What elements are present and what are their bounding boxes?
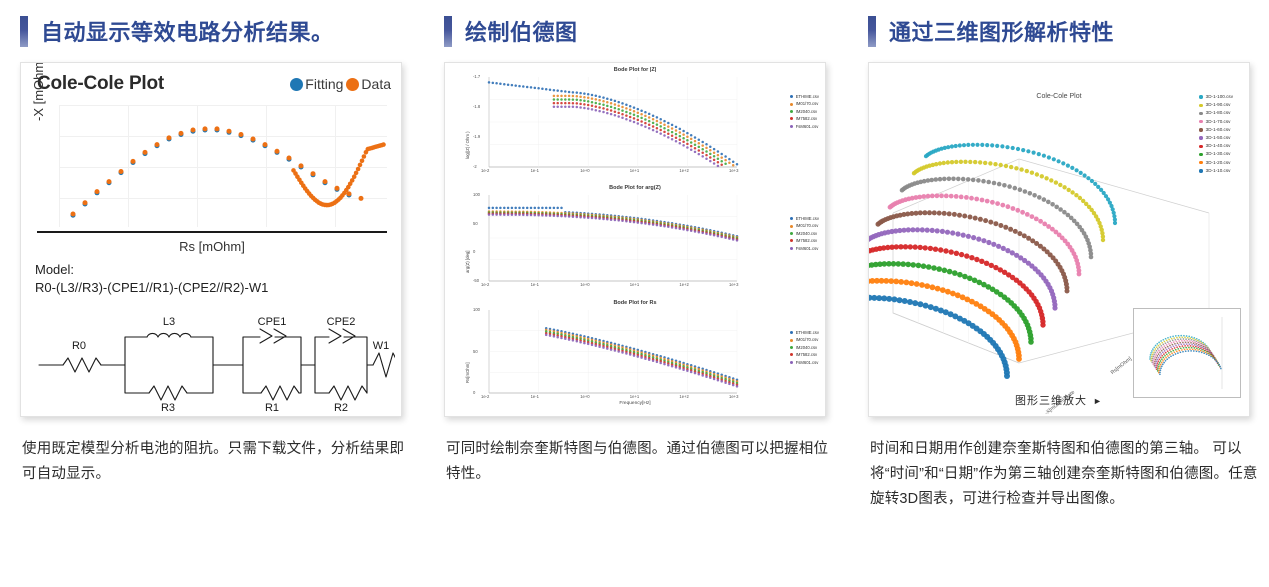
bode-xtick: 1e+2	[679, 282, 688, 287]
threed-legend-item: 3D-1-70.csv	[1199, 118, 1233, 126]
threed-legend-label: 3D-1-80.csv	[1206, 109, 1231, 117]
bode-legend-item: FsM601.csv	[790, 123, 819, 130]
bode-card: Bode Plot for |Z| log(|Z| / Ohm ) Bode P…	[444, 62, 826, 417]
panel-1-heading: 自动显示等效电路分析结果。	[20, 14, 334, 48]
equivalent-circuit-diagram: R0 L3 R3 CPE1 R1 CPE2 R2 W1	[29, 303, 395, 413]
threed-legend-marker-icon	[1199, 153, 1202, 156]
panel-2-caption: 可同时绘制奈奎斯特图与伯德图。通过伯德图可以把握相位特性。	[446, 437, 834, 487]
bode-legend-rs: ETHIME.csvIM01/70.csvIM2040.csvIM7582.cs…	[790, 329, 819, 366]
bode-legend-item: ETHIME.csv	[790, 329, 819, 336]
bode-legend-label: FsM601.csv	[796, 123, 819, 130]
circuit-label-r0: R0	[72, 340, 86, 352]
bode-legend-item: IM7582.csv	[790, 351, 819, 358]
threed-legend-label: 3D-1-30.csv	[1206, 150, 1231, 158]
bode-ytick: 100	[473, 307, 480, 312]
heading-accent-bar	[868, 16, 876, 47]
bode-xtick: 1e-1	[531, 282, 539, 287]
threed-legend-marker-icon	[1199, 161, 1202, 164]
legend-item-data: Data	[346, 76, 391, 92]
threed-legend: 3D-1-100.csv3D-1-90.csv3D-1-80.csv3D-1-7…	[1199, 93, 1233, 175]
bode-ylabel-impedance: log(|Z| / Ohm )	[465, 131, 470, 159]
bode-legend-item: IM2040.csv	[790, 230, 819, 237]
circuit-label-r3: R3	[161, 402, 175, 413]
panel-3-heading: 通过三维图形解析特性	[868, 14, 1114, 48]
bode-legend-marker-icon	[790, 361, 793, 364]
threed-legend-marker-icon	[1199, 128, 1202, 131]
model-label: Model:	[35, 262, 74, 277]
bode-legend-impedance: ETHIME.csvIM01/70.csvIM2040.csvIM7582.cs…	[790, 93, 819, 130]
bode-legend-label: IM7582.csv	[796, 351, 817, 358]
panel-1-heading-text: 自动显示等效电路分析结果。	[41, 15, 334, 47]
bode-ytick: -50	[473, 278, 479, 283]
circuit-label-w1: W1	[373, 340, 390, 352]
threed-legend-item: 3D-1-40.csv	[1199, 142, 1233, 150]
heading-accent-bar	[444, 16, 452, 47]
bode-legend-marker-icon	[790, 339, 793, 342]
bode-xtick: 1e-2	[481, 394, 489, 399]
bode-ytick: -1.8	[473, 104, 480, 109]
cole-cole-legend: Fitting Data	[290, 76, 391, 92]
threed-legend-label: 3D-1-70.csv	[1206, 118, 1231, 126]
bode-ytick: 50	[473, 349, 478, 354]
bode-legend-item: FsM601.csv	[790, 245, 819, 252]
bode-legend-label: ETHIME.csv	[796, 215, 819, 222]
threed-legend-marker-icon	[1199, 136, 1202, 139]
threed-legend-marker-icon	[1199, 169, 1202, 172]
threed-footer-label: 图形三维放大	[1015, 395, 1087, 407]
bode-xlabel: Frequency[Hz]	[445, 401, 825, 406]
bode-xtick: 1e-1	[531, 394, 539, 399]
cole-cole-title: Cole-Cole Plot	[37, 73, 164, 95]
bode-legend-label: IM2040.csv	[796, 230, 817, 237]
bode-legend-label: IM01/70.csv	[796, 336, 819, 343]
legend-item-fitting: Fitting	[290, 76, 343, 92]
threed-footer[interactable]: 图形三维放大►	[869, 392, 1249, 408]
bode-ylabel-phase: arg(Z) [deg]	[465, 251, 470, 273]
model-description: Model: R0-(L3//R3)-(CPE1//R1)-(CPE2//R2)…	[35, 261, 268, 297]
bode-legend-marker-icon	[790, 125, 793, 128]
bode-legend-item: IM01/70.csv	[790, 336, 819, 343]
circuit-label-r1: R1	[265, 402, 279, 413]
bode-legend-marker-icon	[790, 103, 793, 106]
threed-legend-label: 3D-1-60.csv	[1206, 126, 1231, 134]
bode-legend-item: IM7582.csv	[790, 237, 819, 244]
threed-legend-marker-icon	[1199, 145, 1202, 148]
circuit-label-l3: L3	[163, 316, 175, 328]
panel-equivalent-circuit: 自动显示等效电路分析结果。 Cole-Cole Plot Fitting Dat…	[8, 0, 420, 587]
threed-legend-item: 3D-1-90.csv	[1199, 101, 1233, 109]
bode-ytick: 100	[473, 192, 480, 197]
bode-legend-label: ETHIME.csv	[796, 329, 819, 336]
threed-card: Cole-Cole Plot 3D-1-100.csv3D-1-90.csv3D…	[868, 62, 1250, 417]
bode-xtick: 1e+0	[580, 394, 589, 399]
legend-dot-fitting-icon	[290, 78, 303, 91]
bode-xtick: 1e+2	[679, 394, 688, 399]
bode-figure: Bode Plot for |Z| log(|Z| / Ohm ) Bode P…	[445, 63, 825, 416]
bode-ytick: 0	[473, 249, 475, 254]
bode-ylabel-rs: Rs[mOhm]	[465, 362, 470, 383]
threed-legend-label: 3D-1-100.csv	[1206, 93, 1233, 101]
cole-cole-plot-area: -X [mOhm]	[37, 105, 387, 227]
bode-xtick: 1e+2	[679, 168, 688, 173]
circuit-label-cpe1: CPE1	[258, 316, 287, 328]
bode-legend-marker-icon	[790, 239, 793, 242]
panel-1-caption-text: 使用既定模型分析电池的阻抗。只需下载文件，分析结果即可自动显示。	[22, 437, 410, 487]
circuit-label-r2: R2	[334, 402, 348, 413]
bode-ytick: 50	[473, 221, 478, 226]
bode-legend-label: FsM601.csv	[796, 359, 819, 366]
threed-legend-item: 3D-1-50.csv	[1199, 134, 1233, 142]
bode-legend-marker-icon	[790, 95, 793, 98]
page-root: 自动显示等效电路分析结果。 Cole-Cole Plot Fitting Dat…	[0, 0, 1269, 587]
bode-legend-marker-icon	[790, 117, 793, 120]
panel-2-heading-text: 绘制伯德图	[465, 15, 578, 47]
threed-legend-label: 3D-1-40.csv	[1206, 142, 1231, 150]
threed-legend-marker-icon	[1199, 95, 1202, 98]
bode-title-impedance: Bode Plot for |Z|	[445, 67, 825, 73]
bode-xtick: 1e+1	[630, 168, 639, 173]
threed-legend-marker-icon	[1199, 112, 1202, 115]
bode-xtick: 1e+3	[729, 168, 738, 173]
panel-1-caption: 使用既定模型分析电池的阻抗。只需下载文件，分析结果即可自动显示。	[22, 437, 410, 487]
threed-legend-item: 3D-1-100.csv	[1199, 93, 1233, 101]
bode-legend-label: IM7582.csv	[796, 115, 817, 122]
bode-legend-marker-icon	[790, 232, 793, 235]
cole-cole-x-axis-line	[37, 231, 387, 233]
bode-xtick: 1e-2	[481, 168, 489, 173]
cole-cole-x-axis-label: Rs [mOhm]	[37, 239, 387, 254]
legend-dot-data-icon	[346, 78, 359, 91]
bode-xtick: 1e+1	[630, 394, 639, 399]
panel-2-heading: 绘制伯德图	[444, 14, 578, 48]
bode-xtick: 1e+0	[580, 282, 589, 287]
bode-legend-marker-icon	[790, 247, 793, 250]
bode-legend-item: ETHIME.csv	[790, 93, 819, 100]
bode-legend-label: IM2040.csv	[796, 108, 817, 115]
model-formula: R0-(L3//R3)-(CPE1//R1)-(CPE2//R2)-W1	[35, 280, 268, 295]
cole-cole-scatter	[37, 105, 387, 227]
bode-legend-item: ETHIME.csv	[790, 215, 819, 222]
bode-xtick: 1e+3	[729, 394, 738, 399]
panel-2-caption-text: 可同时绘制奈奎斯特图与伯德图。通过伯德图可以把握相位特性。	[446, 437, 834, 487]
threed-legend-item: 3D-1-80.csv	[1199, 109, 1233, 117]
bode-title-rs: Bode Plot for Rs	[445, 300, 825, 306]
bode-xtick: 1e+1	[630, 282, 639, 287]
threed-legend-marker-icon	[1199, 104, 1202, 107]
circuit-label-cpe2: CPE2	[327, 316, 356, 328]
bode-legend-item: IM7582.csv	[790, 115, 819, 122]
threed-inset-preview[interactable]	[1133, 308, 1241, 398]
bode-legend-marker-icon	[790, 331, 793, 334]
bode-legend-label: IM01/70.csv	[796, 100, 819, 107]
heading-accent-bar	[20, 16, 28, 47]
cole-cole-card: Cole-Cole Plot Fitting Data -X [mOhm]	[20, 62, 402, 417]
panel-3-caption: 时间和日期用作创建奈奎斯特图和伯德图的第三轴。 可以将“时间”和“日期”作为第三…	[870, 437, 1258, 512]
threed-legend-item: 3D-1-20.csv	[1199, 159, 1233, 167]
bode-legend-marker-icon	[790, 225, 793, 228]
panel-3d-plot: 通过三维图形解析特性 Cole-Cole Plot 3D-1-100.csv3D…	[856, 0, 1268, 587]
bode-ytick: -1.7	[473, 74, 480, 79]
threed-legend-item: 3D-1-10.csv	[1199, 167, 1233, 175]
bode-legend-item: FsM601.csv	[790, 359, 819, 366]
bode-xtick: 1e-2	[481, 282, 489, 287]
threed-legend-label: 3D-1-10.csv	[1206, 167, 1231, 175]
threed-legend-item: 3D-1-30.csv	[1199, 150, 1233, 158]
bode-legend-item: IM01/70.csv	[790, 100, 819, 107]
bode-xtick: 1e+3	[729, 282, 738, 287]
threed-footer-arrow-icon: ►	[1093, 396, 1103, 406]
bode-legend-label: IM7582.csv	[796, 237, 817, 244]
bode-xtick: 1e+0	[580, 168, 589, 173]
bode-legend-label: ETHIME.csv	[796, 93, 819, 100]
bode-legend-marker-icon	[790, 217, 793, 220]
bode-legend-marker-icon	[790, 346, 793, 349]
bode-legend-marker-icon	[790, 110, 793, 113]
bode-legend-label: IM2040.csv	[796, 344, 817, 351]
threed-inset-svg	[1134, 309, 1240, 397]
bode-title-phase: Bode Plot for arg(Z)	[445, 185, 825, 191]
bode-xtick: 1e-1	[531, 168, 539, 173]
bode-legend-label: IM01/70.csv	[796, 222, 819, 229]
bode-ytick: -1.9	[473, 134, 480, 139]
panel-3-heading-text: 通过三维图形解析特性	[889, 15, 1114, 47]
bode-legend-item: IM2040.csv	[790, 344, 819, 351]
bode-ytick: -2	[473, 164, 477, 169]
bode-svg	[445, 63, 825, 416]
bode-ytick: 0	[473, 390, 475, 395]
bode-legend-item: IM2040.csv	[790, 108, 819, 115]
threed-legend-label: 3D-1-20.csv	[1206, 159, 1231, 167]
panel-bode-plot: 绘制伯德图 Bode Plot for |Z| log(|Z| / Ohm ) …	[432, 0, 844, 587]
bode-legend-item: IM01/70.csv	[790, 222, 819, 229]
legend-label-data: Data	[361, 76, 391, 92]
legend-label-fitting: Fitting	[305, 76, 343, 92]
threed-legend-item: 3D-1-60.csv	[1199, 126, 1233, 134]
threed-legend-label: 3D-1-50.csv	[1206, 134, 1231, 142]
threed-legend-label: 3D-1-90.csv	[1206, 101, 1231, 109]
panel-3-caption-text: 时间和日期用作创建奈奎斯特图和伯德图的第三轴。 可以将“时间”和“日期”作为第三…	[870, 437, 1258, 512]
threed-legend-marker-icon	[1199, 120, 1202, 123]
bode-legend-phase: ETHIME.csvIM01/70.csvIM2040.csvIM7582.cs…	[790, 215, 819, 252]
bode-legend-label: FsM601.csv	[796, 245, 819, 252]
bode-legend-marker-icon	[790, 353, 793, 356]
